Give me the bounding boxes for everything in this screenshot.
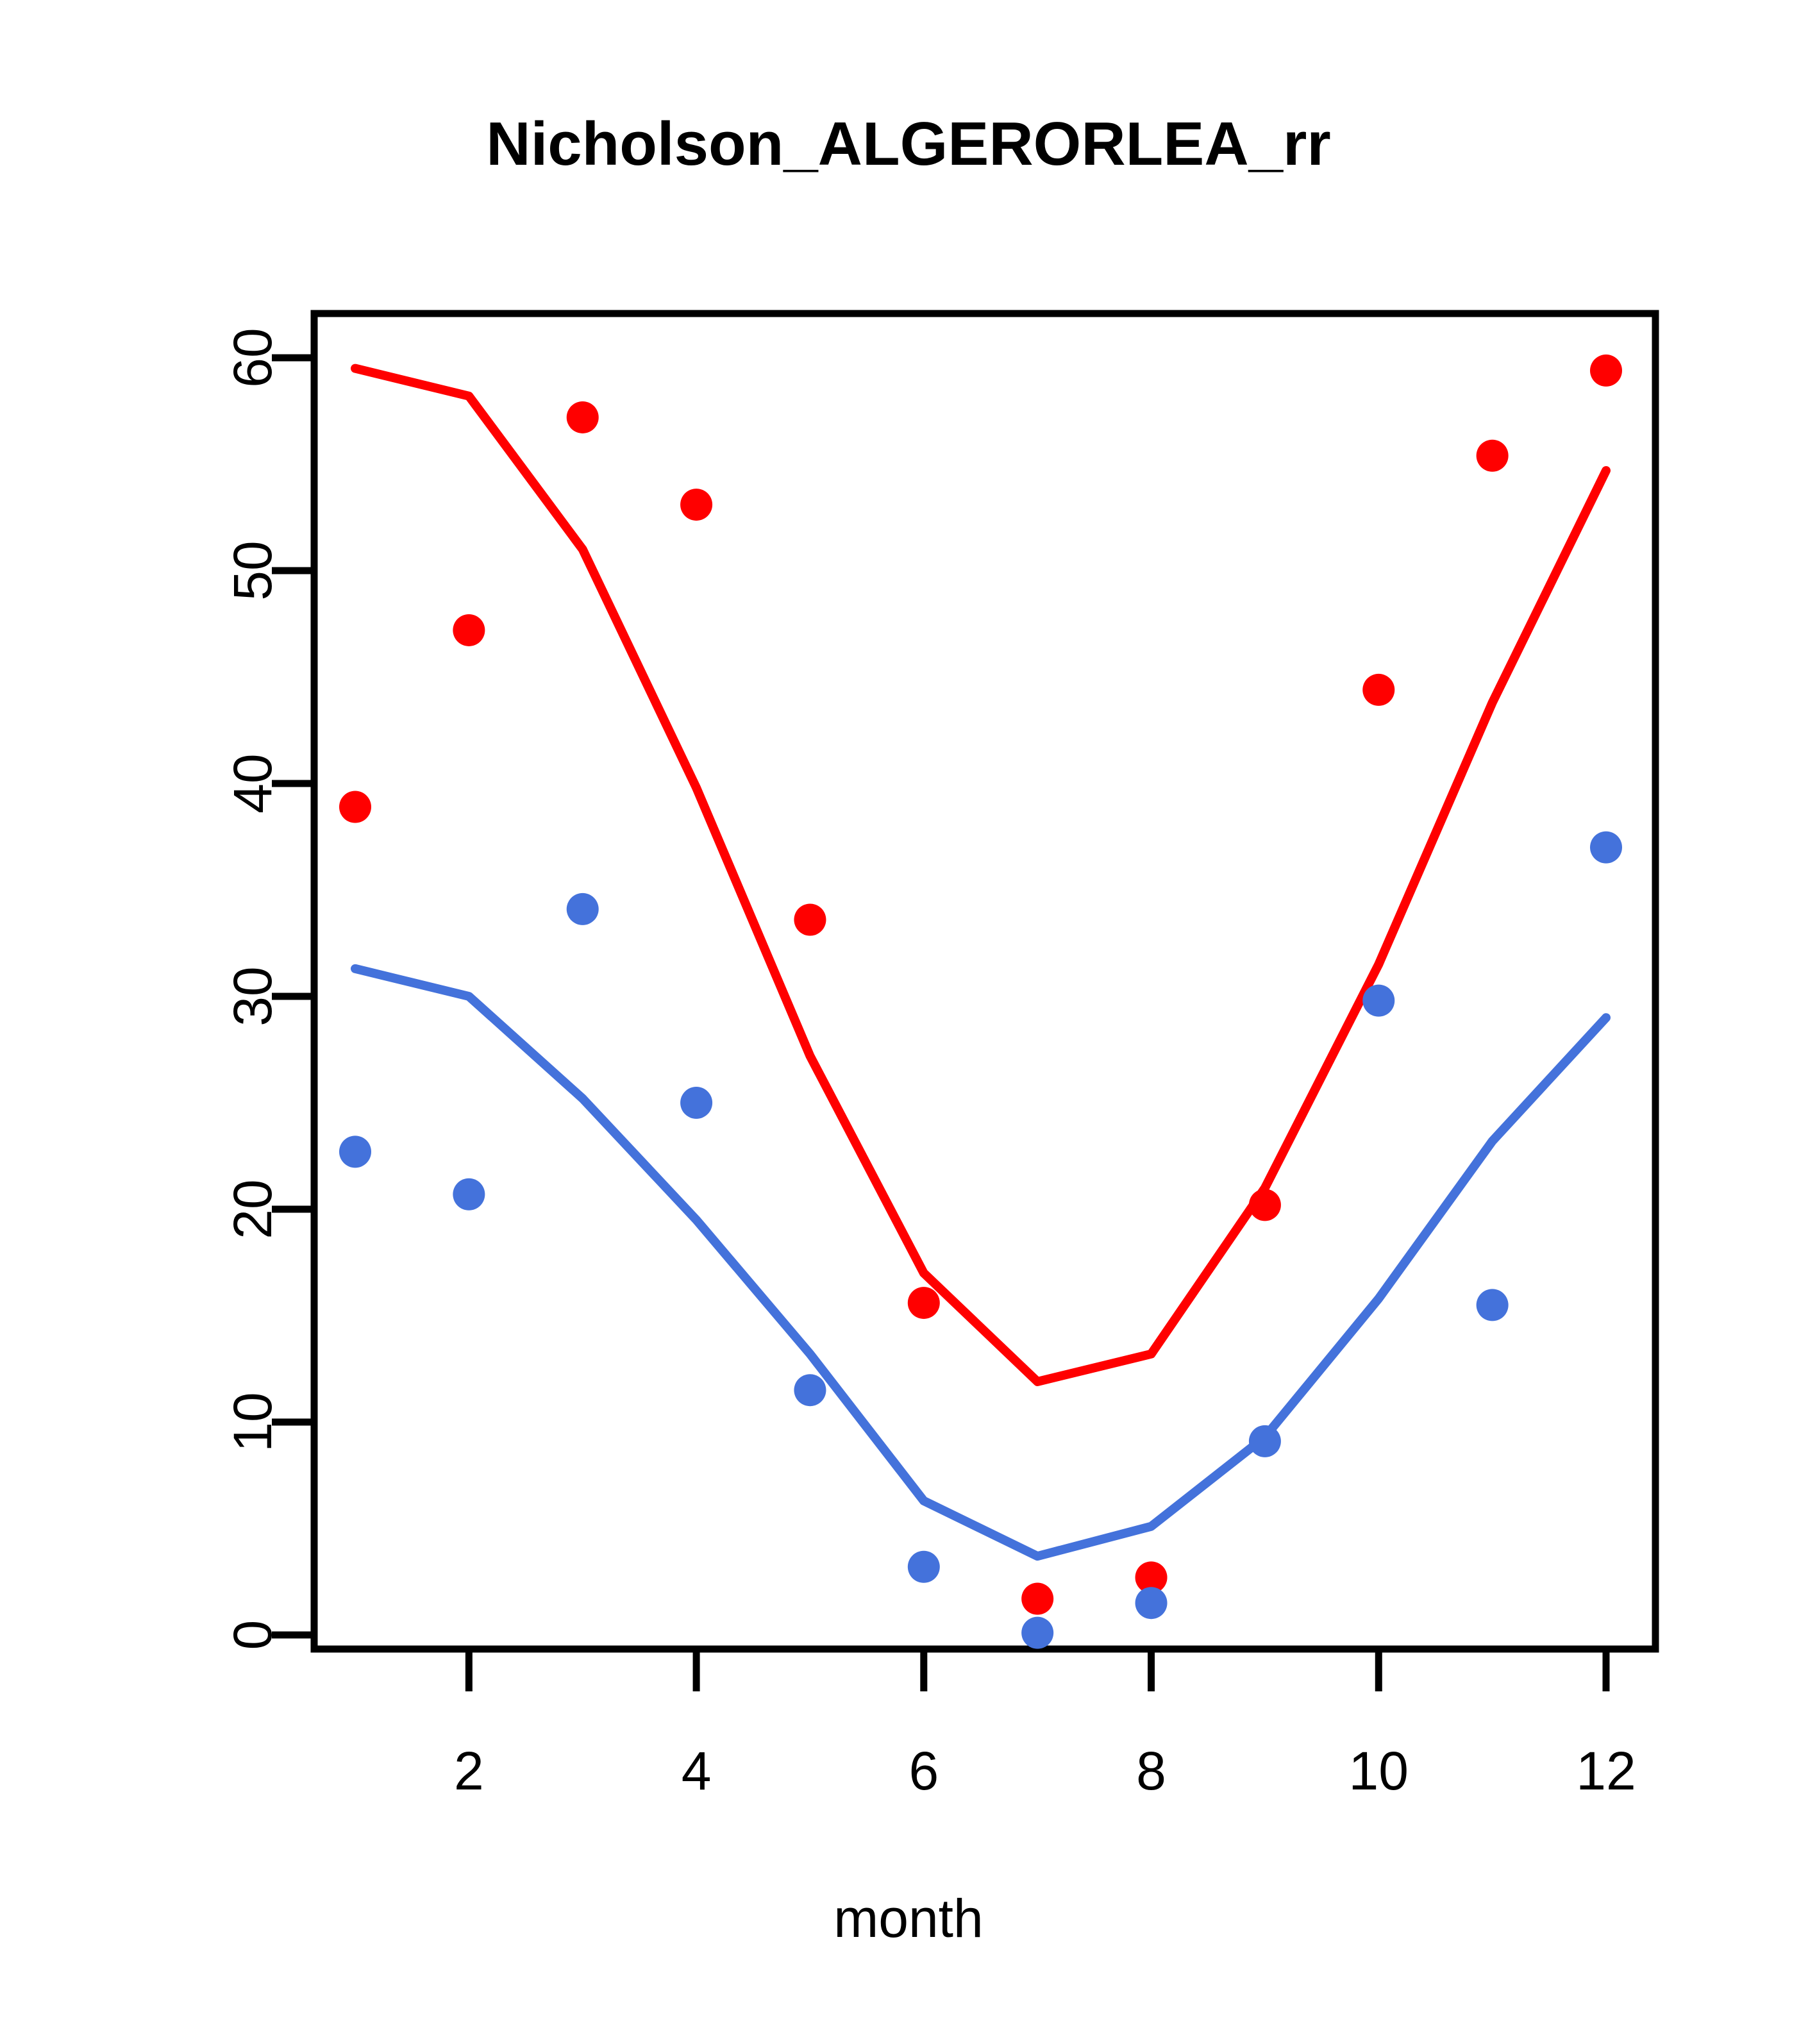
data-point: [1249, 1425, 1281, 1457]
x-axis-ticks: [469, 1649, 1606, 1691]
y-axis-tick-label: 10: [222, 1392, 283, 1452]
data-point: [1590, 355, 1622, 387]
data-point: [339, 791, 371, 823]
data-point: [680, 489, 712, 521]
series-points: [339, 355, 1622, 1649]
y-axis-tick-label: 60: [222, 328, 283, 387]
data-point: [1021, 1583, 1053, 1615]
y-axis-tick-label: 50: [222, 540, 283, 600]
data-point: [1362, 674, 1394, 706]
y-axis-tick-labels: 0102030405060: [222, 328, 283, 1650]
data-point: [908, 1551, 940, 1583]
data-point: [1021, 1617, 1053, 1649]
chart-canvas: 0102030405060 24681012: [0, 0, 1817, 2044]
y-axis-tick-label: 30: [222, 966, 283, 1026]
data-point: [1135, 1587, 1168, 1619]
x-axis-tick-label: 4: [682, 1741, 712, 1801]
data-point: [680, 1087, 712, 1119]
y-axis-tick-label: 0: [222, 1620, 283, 1650]
x-axis-tick-label: 8: [1136, 1741, 1166, 1801]
x-axis-tick-labels: 24681012: [454, 1741, 1636, 1801]
data-point: [1590, 832, 1622, 864]
data-point: [1362, 985, 1394, 1017]
series-line-red-line: [355, 369, 1606, 1382]
x-axis-label: month: [0, 1888, 1817, 1950]
data-point: [339, 1135, 371, 1168]
x-axis-tick-label: 10: [1349, 1741, 1409, 1801]
data-point: [1477, 440, 1509, 472]
x-axis-tick-label: 2: [454, 1741, 484, 1801]
x-axis-tick-label: 12: [1576, 1741, 1636, 1801]
series-line-blue-line: [355, 969, 1606, 1556]
data-point: [794, 903, 826, 935]
data-point: [453, 614, 485, 646]
data-point: [567, 401, 599, 433]
data-point: [1477, 1289, 1509, 1321]
data-point: [1249, 1189, 1281, 1221]
series-lines: [355, 369, 1606, 1557]
data-point: [908, 1287, 940, 1319]
y-axis-tick-label: 20: [222, 1179, 283, 1239]
data-point: [453, 1178, 485, 1210]
data-point: [794, 1374, 826, 1406]
plot-frame: [314, 314, 1655, 1649]
plot-figure: Nicholson_ALGERORLEA_rr 0102030405060 24…: [0, 0, 1817, 2044]
y-axis-tick-label: 40: [222, 753, 283, 813]
data-point: [567, 893, 599, 925]
x-axis-tick-label: 6: [908, 1741, 939, 1801]
